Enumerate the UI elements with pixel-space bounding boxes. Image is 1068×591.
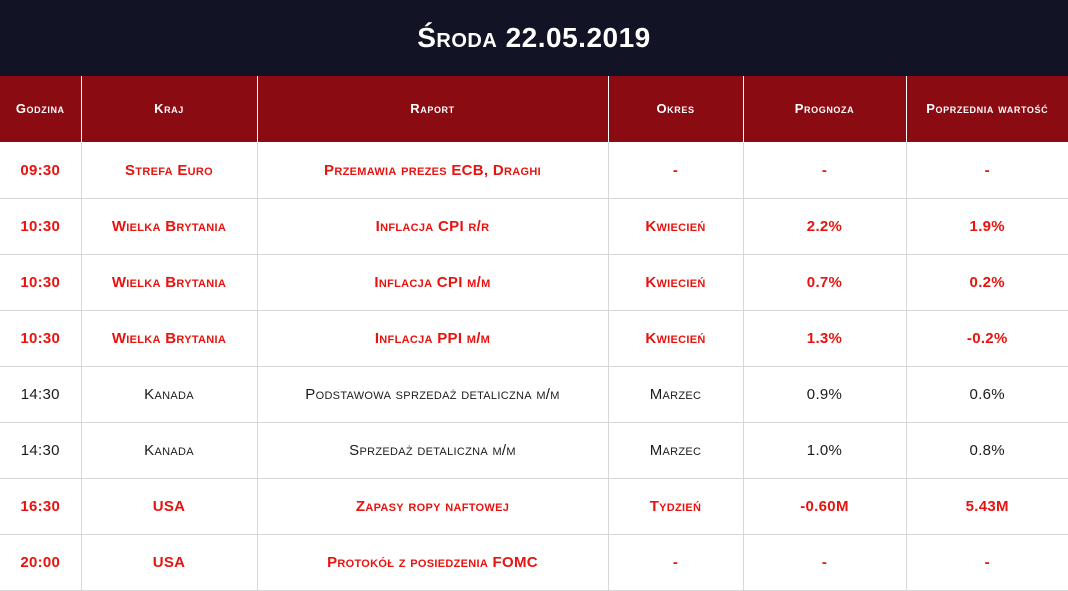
cell-country: USA [81, 535, 257, 591]
cell-forecast: - [743, 143, 906, 199]
cell-country: Kanada [81, 367, 257, 423]
table-row: 14:30 Kanada Podstawowa sprzedaż detalic… [0, 367, 1068, 423]
cell-period: Kwiecień [608, 311, 743, 367]
cell-country: Wielka Brytania [81, 311, 257, 367]
cell-country: Wielka Brytania [81, 199, 257, 255]
table-row: 09:30 Strefa Euro Przemawia prezes ECB, … [0, 143, 1068, 199]
cell-forecast: 1.0% [743, 423, 906, 479]
cell-previous: 5.43M [906, 479, 1068, 535]
cell-forecast: 1.3% [743, 311, 906, 367]
cell-time: 20:00 [0, 535, 81, 591]
cell-report: Sprzedaż detaliczna m/m [257, 423, 608, 479]
cell-time: 16:30 [0, 479, 81, 535]
cell-country: Wielka Brytania [81, 255, 257, 311]
column-header-time: Godzina [0, 76, 81, 143]
cell-country: Kanada [81, 423, 257, 479]
cell-time: 10:30 [0, 199, 81, 255]
cell-previous: 0.2% [906, 255, 1068, 311]
cell-report: Inflacja PPI m/m [257, 311, 608, 367]
table-row: 16:30 USA Zapasy ropy naftowej Tydzień -… [0, 479, 1068, 535]
column-header-report: Raport [257, 76, 608, 143]
cell-forecast: 0.7% [743, 255, 906, 311]
cell-previous: - [906, 535, 1068, 591]
cell-forecast: 0.9% [743, 367, 906, 423]
cell-forecast: 2.2% [743, 199, 906, 255]
cell-country: USA [81, 479, 257, 535]
cell-previous: 1.9% [906, 199, 1068, 255]
cell-period: Kwiecień [608, 199, 743, 255]
column-header-previous: Poprzednia wartość [906, 76, 1068, 143]
cell-report: Przemawia prezes ECB, Draghi [257, 143, 608, 199]
table-row: 10:30 Wielka Brytania Inflacja PPI m/m K… [0, 311, 1068, 367]
cell-previous: 0.6% [906, 367, 1068, 423]
cell-period: Marzec [608, 423, 743, 479]
table-header-row: Godzina Kraj Raport Okres Prognoza Poprz… [0, 76, 1068, 143]
cell-report: Zapasy ropy naftowej [257, 479, 608, 535]
cell-time: 10:30 [0, 255, 81, 311]
cell-period: Kwiecień [608, 255, 743, 311]
cell-report: Inflacja CPI m/m [257, 255, 608, 311]
column-header-country: Kraj [81, 76, 257, 143]
cell-time: 09:30 [0, 143, 81, 199]
cell-time: 14:30 [0, 367, 81, 423]
cell-report: Protokół z posiedzenia FOMC [257, 535, 608, 591]
cell-report: Inflacja CPI r/r [257, 199, 608, 255]
table-row: 20:00 USA Protokół z posiedzenia FOMC - … [0, 535, 1068, 591]
cell-period: Marzec [608, 367, 743, 423]
cell-country: Strefa Euro [81, 143, 257, 199]
events-table: Godzina Kraj Raport Okres Prognoza Poprz… [0, 76, 1068, 591]
page-title: Środa 22.05.2019 [417, 22, 650, 54]
cell-time: 10:30 [0, 311, 81, 367]
table-row: 10:30 Wielka Brytania Inflacja CPI m/m K… [0, 255, 1068, 311]
table-row: 14:30 Kanada Sprzedaż detaliczna m/m Mar… [0, 423, 1068, 479]
cell-period: - [608, 535, 743, 591]
cell-forecast: - [743, 535, 906, 591]
cell-previous: 0.8% [906, 423, 1068, 479]
economic-calendar: Środa 22.05.2019 Godzina Kraj Raport Okr… [0, 0, 1068, 560]
table-row: 10:30 Wielka Brytania Inflacja CPI r/r K… [0, 199, 1068, 255]
calendar-title-bar: Środa 22.05.2019 [0, 0, 1068, 76]
cell-period: Tydzień [608, 479, 743, 535]
cell-period: - [608, 143, 743, 199]
cell-forecast: -0.60M [743, 479, 906, 535]
cell-previous: -0.2% [906, 311, 1068, 367]
cell-time: 14:30 [0, 423, 81, 479]
column-header-forecast: Prognoza [743, 76, 906, 143]
table-header: Godzina Kraj Raport Okres Prognoza Poprz… [0, 76, 1068, 143]
column-header-period: Okres [608, 76, 743, 143]
cell-previous: - [906, 143, 1068, 199]
table-body: 09:30 Strefa Euro Przemawia prezes ECB, … [0, 143, 1068, 591]
cell-report: Podstawowa sprzedaż detaliczna m/m [257, 367, 608, 423]
